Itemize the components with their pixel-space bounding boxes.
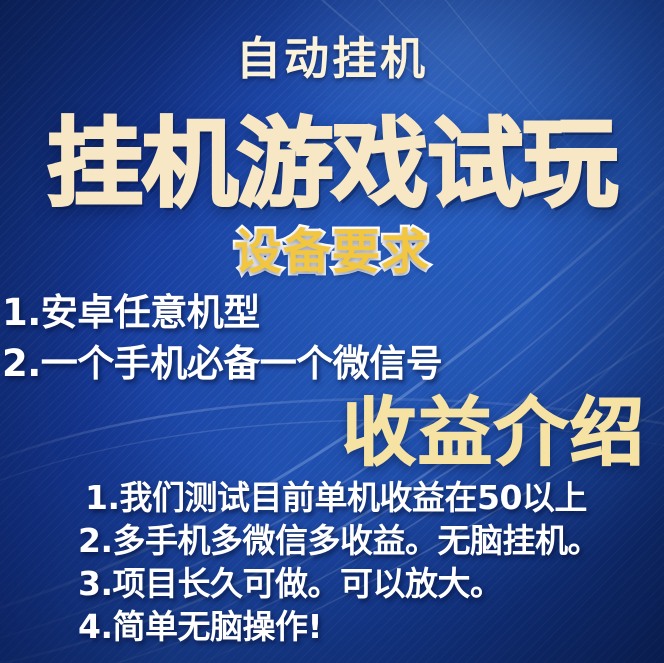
requirement-item-1: 1.安卓任意机型 [2, 294, 260, 331]
headline-main: 挂机游戏试玩 [0, 116, 664, 212]
benefit-item-1: 1.我们测试目前单机收益在50以上 [85, 481, 587, 514]
benefit-item-3: 3.项目长久可做。可以放大。 [78, 567, 503, 600]
section-title-device-requirements: 设备要求 [0, 228, 664, 276]
benefit-item-2: 2.多手机多微信多收益。无脑挂机。 [78, 524, 600, 557]
section-title-income-intro: 收益介绍 [342, 396, 646, 470]
benefit-item-4: 4.简单无脑操作! [78, 610, 322, 643]
requirement-item-2: 2.一个手机必备一个微信号 [2, 345, 442, 382]
headline-small: 自动挂机 [0, 36, 664, 81]
promo-poster: 自动挂机 挂机游戏试玩 设备要求 1.安卓任意机型 2.一个手机必备一个微信号 … [0, 0, 664, 663]
